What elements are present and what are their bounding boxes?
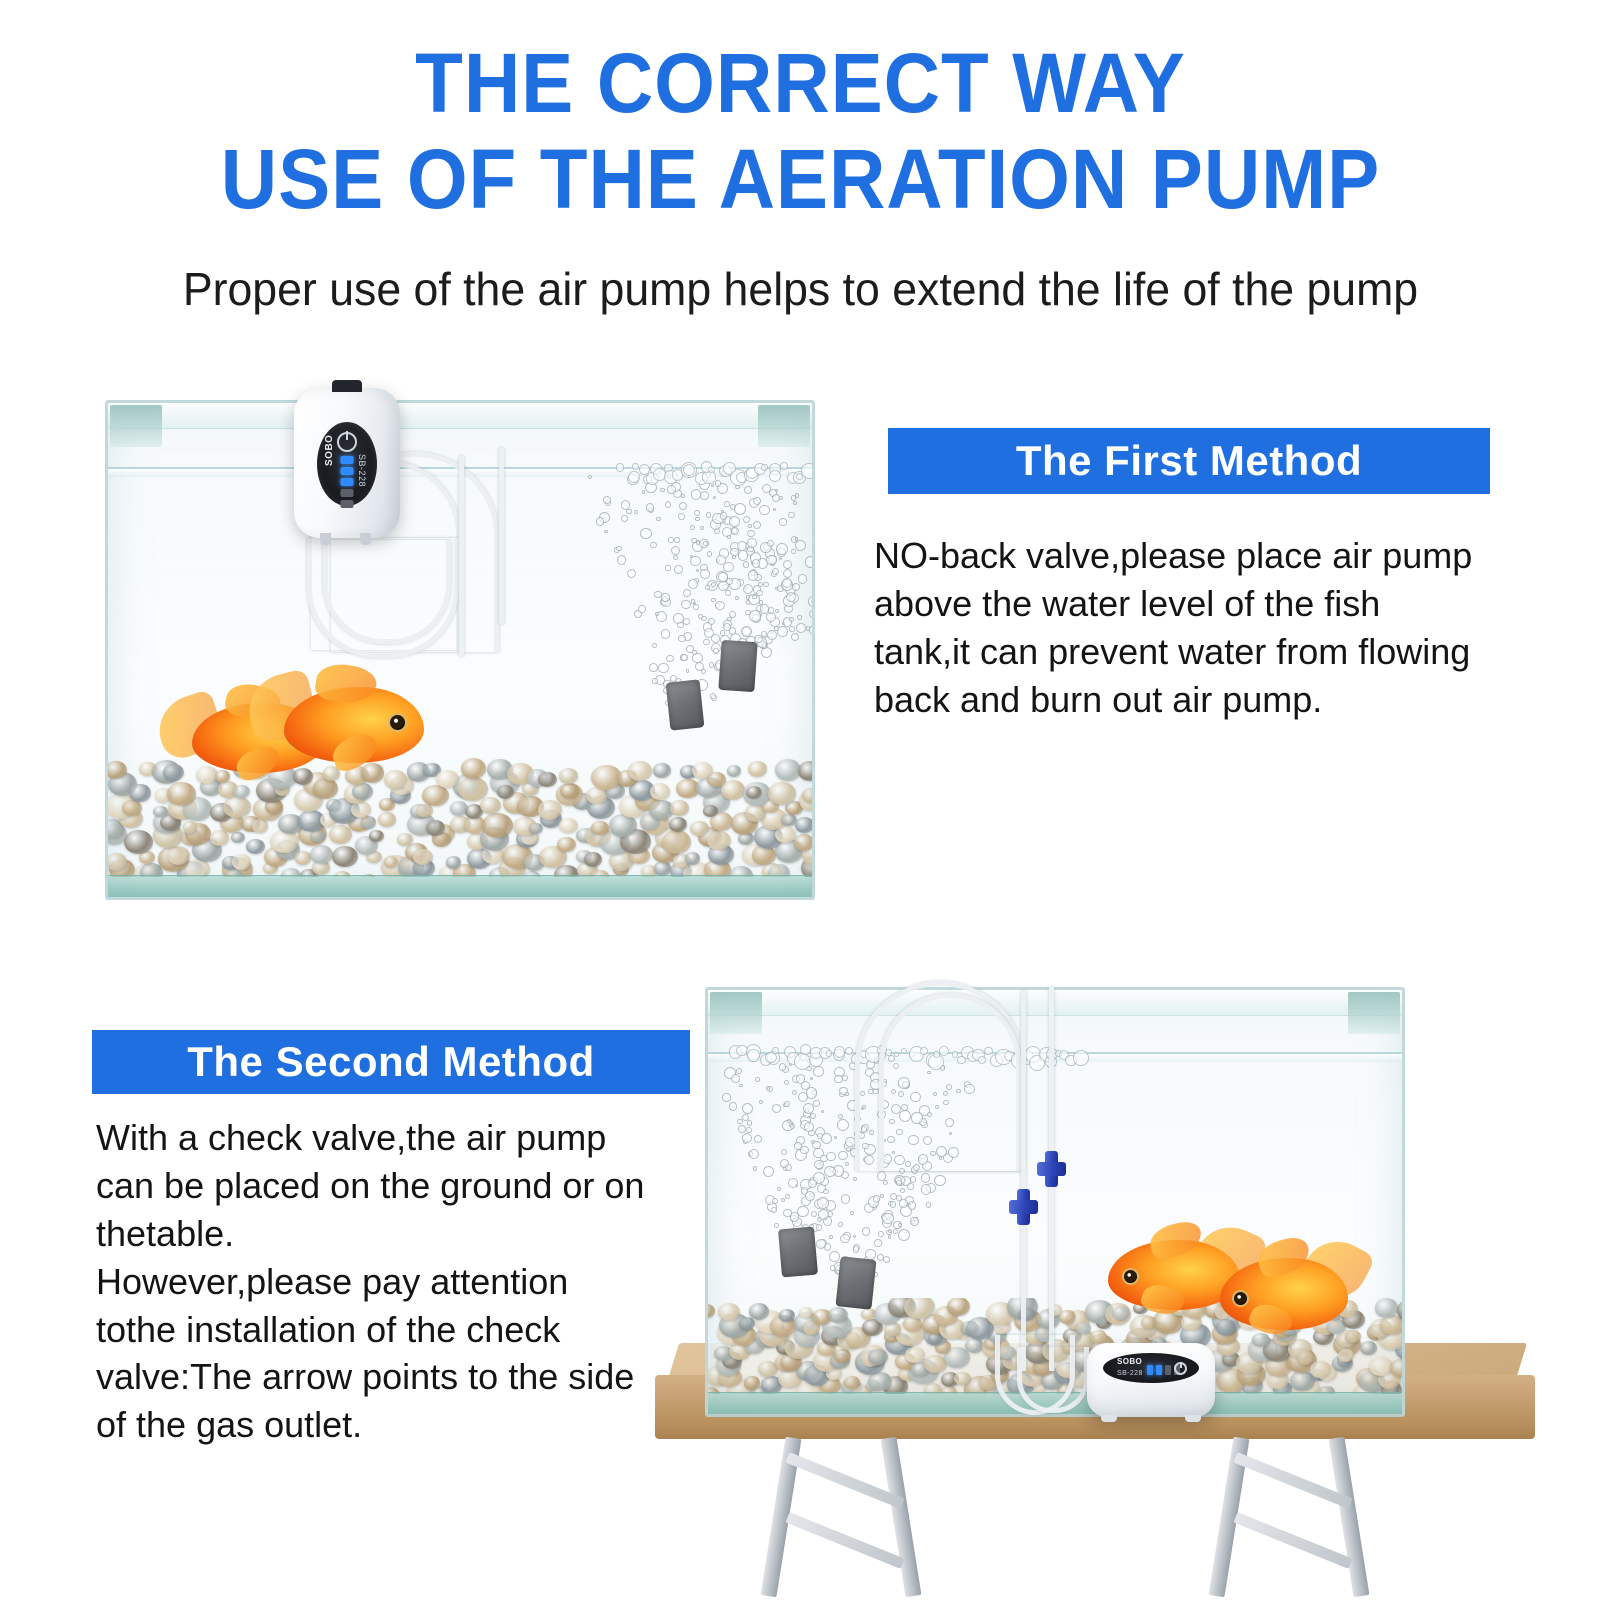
title-line-1: THE CORRECT WAY	[56, 42, 1545, 124]
air-bubble	[814, 512, 815, 518]
air-bubble	[838, 1151, 847, 1160]
air-bubble	[711, 582, 716, 587]
air-bubble	[738, 1125, 746, 1133]
gravel-pebble	[295, 851, 311, 864]
air-bubble	[789, 617, 795, 623]
gravel-pebble	[559, 818, 578, 833]
banner-second-method-label: The Second Method	[187, 1038, 595, 1086]
air-bubble	[775, 489, 778, 492]
air-bubble	[715, 480, 722, 487]
air-bubble	[838, 1114, 843, 1119]
air-bubble	[779, 496, 783, 500]
air-bubble	[674, 537, 680, 543]
air-bubble	[638, 605, 646, 613]
air-bubble	[767, 540, 774, 547]
air-bubble	[813, 1100, 820, 1107]
air-bubble	[729, 611, 736, 618]
air-bubble	[812, 596, 815, 606]
airline-tube-descent	[459, 456, 464, 656]
air-bubble	[823, 1189, 828, 1194]
air-bubble	[814, 1160, 823, 1169]
air-bubble	[814, 515, 815, 521]
surface-foam-bubble	[845, 1047, 853, 1055]
air-bubble	[755, 1077, 759, 1081]
air-bubble	[701, 616, 707, 622]
air-bubble	[691, 538, 697, 544]
air-bubble	[824, 1243, 832, 1251]
air-bubble	[834, 1136, 837, 1139]
air-bubble	[910, 1217, 919, 1226]
gravel-pebble	[868, 1372, 892, 1392]
gravel-pebble	[650, 783, 670, 799]
gravel-pebble	[739, 1317, 755, 1330]
air-bubble	[797, 615, 802, 620]
air-bubble	[686, 669, 689, 672]
air-bubble	[791, 495, 797, 501]
air-bubble	[896, 1180, 902, 1186]
air-bubble	[934, 1175, 945, 1186]
airline-tube-riser	[1021, 991, 1026, 1371]
air-bubble	[804, 1122, 814, 1132]
air-bubble	[720, 630, 726, 636]
gravel-pebble	[560, 783, 579, 799]
gravel-pebble	[384, 770, 407, 789]
air-stone	[778, 1227, 818, 1278]
air-bubble	[700, 569, 710, 579]
air-bubble	[759, 505, 769, 515]
air-bubble	[706, 512, 712, 518]
air-bubble	[829, 1235, 833, 1239]
gravel-pebble	[252, 819, 268, 832]
air-bubble	[713, 496, 716, 499]
gravel-pebble	[748, 761, 767, 777]
air-bubble	[837, 1119, 849, 1131]
air-bubble	[649, 663, 658, 672]
air-bubble	[803, 1103, 814, 1114]
gravel-pebble	[954, 1372, 971, 1386]
gravel-pebble	[310, 845, 333, 864]
gravel-pebble	[584, 852, 603, 867]
air-bubble	[661, 593, 670, 602]
air-bubble	[658, 663, 669, 674]
illustration-second-method: SOBO SB-228	[655, 975, 1555, 1595]
air-bubble	[686, 645, 693, 652]
air-bubble	[681, 600, 691, 610]
gravel-pebble	[223, 796, 250, 819]
air-bubble	[766, 555, 777, 566]
pump-outlet-port	[360, 533, 371, 545]
air-bubble	[617, 555, 627, 565]
air-bubble	[715, 601, 725, 611]
air-bubble	[736, 1068, 742, 1074]
gravel-pebble	[231, 832, 245, 844]
air-bubble	[739, 1084, 742, 1087]
tank-rim-cap-right	[1348, 992, 1400, 1034]
gravel-pebble	[210, 830, 229, 845]
led-indicator	[1147, 1365, 1153, 1375]
air-bubble	[779, 518, 787, 526]
tank-rim	[708, 990, 1402, 1016]
air-bubble	[791, 633, 799, 641]
air-bubble	[789, 626, 795, 632]
air-bubble	[800, 1146, 809, 1155]
surface-foam-bubble	[1073, 1050, 1089, 1066]
gravel-pebble	[232, 854, 251, 870]
air-bubble	[788, 512, 794, 518]
gravel-pebble	[397, 833, 413, 846]
goldfish	[284, 687, 424, 763]
air-bubble	[791, 549, 796, 554]
air-bubble	[775, 609, 779, 613]
air-bubble	[779, 557, 782, 560]
infographic-page: THE CORRECT WAY USE OF THE AERATION PUMP…	[0, 0, 1601, 1601]
air-bubble	[753, 521, 761, 529]
air-bubble	[826, 1152, 836, 1162]
pump-brand-label: SOBO	[1117, 1357, 1142, 1366]
gravel-pebble	[446, 856, 461, 868]
table-leg	[881, 1437, 922, 1598]
air-bubble	[749, 610, 761, 622]
air-bubble	[777, 1187, 781, 1191]
banner-first-method-label: The First Method	[1016, 437, 1362, 485]
air-bubble	[753, 497, 761, 505]
air-bubble	[785, 1194, 790, 1199]
surface-foam-bubble	[813, 472, 815, 482]
air-bubble	[665, 501, 671, 507]
air-bubble	[760, 604, 769, 613]
air-bubble	[882, 1213, 893, 1224]
air-bubble	[691, 599, 696, 604]
air-bubble	[809, 625, 815, 635]
air-bubble	[729, 516, 741, 528]
led-indicator-group	[341, 456, 354, 511]
air-bubble	[926, 1202, 931, 1207]
gravel-pebble	[670, 800, 689, 816]
air-bubble	[720, 512, 728, 520]
air-bubble	[838, 1222, 843, 1227]
gravel-pebble	[749, 1303, 770, 1320]
air-bubble	[829, 1251, 840, 1262]
air-bubble	[784, 1101, 790, 1107]
air-bubble	[753, 1166, 757, 1170]
air-bubble	[752, 559, 760, 567]
banner-second-method: The Second Method	[92, 1030, 690, 1094]
air-bubble	[840, 1234, 850, 1244]
gravel-pebble	[108, 853, 127, 870]
air-bubble	[713, 648, 719, 654]
body-second-method: With a check valve,the air pump can be p…	[96, 1114, 656, 1449]
gravel-pebble	[416, 804, 433, 818]
pump-foot	[1185, 1415, 1201, 1422]
gravel-pebble	[744, 1376, 761, 1390]
gravel-pebble	[718, 1303, 740, 1321]
gravel-pebble	[905, 1347, 925, 1363]
air-bubble	[845, 1162, 850, 1167]
gravel-pebble	[480, 797, 501, 814]
air-bubble	[742, 1133, 752, 1143]
air-bubble	[704, 628, 714, 638]
banner-first-method: The First Method	[888, 428, 1490, 494]
gravel-pebble	[703, 805, 718, 817]
gravel-pebble	[768, 782, 795, 804]
airline-tube-descent	[499, 448, 504, 624]
gravel-pebble	[183, 821, 198, 833]
air-bubble	[747, 538, 758, 549]
air-bubble	[880, 1194, 884, 1198]
gravel-pebble	[669, 817, 687, 832]
air-bubble	[793, 501, 797, 505]
gravel-pebble	[1338, 1349, 1354, 1362]
gravel-pebble	[828, 1307, 848, 1323]
air-bubble	[743, 584, 753, 594]
air-bubble	[883, 1180, 888, 1185]
tank-rim-cap-left	[710, 992, 762, 1034]
pump-outlet-port	[320, 533, 331, 545]
air-bubble	[735, 596, 739, 600]
air-bubble	[767, 630, 777, 640]
air-bubble	[749, 1149, 760, 1160]
body-first-method: NO-back valve,please place air pump abov…	[874, 532, 1474, 724]
gravel-pebble	[799, 1307, 813, 1319]
tank-rim-cap-right	[758, 405, 810, 447]
air-bubble	[709, 662, 714, 667]
subtitle: Proper use of the air pump helps to exte…	[24, 262, 1577, 316]
air-bubble	[683, 589, 691, 597]
air-bubble	[660, 488, 665, 493]
gravel-pebble	[482, 813, 513, 838]
air-bubble	[588, 475, 592, 479]
pump-foot	[1101, 1415, 1117, 1422]
air-bubble	[711, 484, 714, 487]
air-bubble	[771, 1207, 778, 1214]
air-bubble	[808, 596, 815, 606]
gravel-pebble	[538, 772, 557, 788]
air-bubble	[690, 525, 695, 530]
tank-rim	[108, 403, 812, 429]
led-indicator	[341, 478, 354, 486]
air-bubble	[596, 517, 605, 526]
air-bubble	[845, 1092, 849, 1096]
gravel-pebble	[436, 770, 458, 788]
gravel-pebble	[1390, 1359, 1402, 1377]
air-bubble	[665, 565, 670, 570]
gravel-pebble	[795, 817, 812, 833]
air-bubble	[674, 565, 683, 574]
air-bubble	[722, 1093, 731, 1102]
check-valve	[1017, 1189, 1030, 1225]
air-bubble	[627, 569, 636, 578]
air-bubble	[640, 528, 651, 539]
air-bubble	[853, 1235, 856, 1238]
air-bubble	[742, 1103, 753, 1114]
air-bubble	[748, 524, 752, 528]
power-button-icon[interactable]	[1174, 1362, 1187, 1375]
gravel-pebble	[685, 852, 700, 865]
air-bubble	[862, 1227, 870, 1235]
air-bubble	[743, 561, 750, 568]
air-bubble	[921, 1173, 930, 1182]
air-bubble	[898, 1229, 910, 1241]
table-brace	[785, 1512, 904, 1569]
fish-eye	[1232, 1290, 1249, 1307]
led-indicator	[1156, 1365, 1162, 1375]
pump-brand-label: SOBO	[324, 435, 335, 466]
air-bubble	[747, 1120, 753, 1126]
air-stone	[718, 640, 757, 692]
pump-control-panel[interactable]: SOBO SB-228	[317, 422, 377, 506]
gravel-pebble	[1360, 1341, 1377, 1355]
air-bubble	[813, 557, 815, 561]
air-stone	[835, 1256, 876, 1309]
gravel-bed	[108, 755, 812, 877]
gravel-pebble	[329, 825, 352, 844]
air-bubble	[731, 527, 739, 535]
pump-model-label: SB-228	[1117, 1370, 1143, 1377]
surface-foam-bubble	[826, 1050, 833, 1057]
gravel-pebble	[727, 765, 741, 777]
air-bubble	[890, 1193, 897, 1200]
tank-base-glass	[108, 875, 812, 897]
air-bubble	[853, 1246, 859, 1252]
air-bubble	[878, 1231, 884, 1237]
illustration-first-method: SOBO SB-228	[95, 390, 825, 910]
air-bubble	[694, 510, 700, 516]
gravel-pebble	[233, 785, 250, 799]
air-bubble	[703, 541, 708, 546]
air-bubble	[671, 546, 680, 555]
air-bubble	[899, 1199, 907, 1207]
air-bubble	[853, 1177, 857, 1181]
gravel-pebble	[947, 1298, 970, 1316]
air-bubble	[813, 1066, 824, 1077]
air-bubble	[642, 490, 646, 494]
air-bubble	[688, 579, 698, 589]
air-bubble	[754, 1135, 762, 1143]
air-bubble	[813, 1148, 823, 1158]
air-bubble	[809, 610, 815, 618]
air-bubble	[708, 618, 716, 626]
gravel-pebble	[1369, 1357, 1392, 1376]
air-bubble	[805, 556, 815, 568]
gravel-pebble	[153, 806, 167, 818]
air-bubble	[744, 486, 752, 494]
led-indicator	[341, 500, 354, 508]
pump-control-panel[interactable]: SOBO SB-228	[1103, 1353, 1199, 1383]
air-bubble	[731, 1074, 740, 1083]
air-bubble	[741, 626, 752, 637]
check-valve	[1045, 1151, 1058, 1187]
air-bubble	[678, 513, 685, 520]
led-indicator	[1165, 1365, 1171, 1375]
air-bubble	[661, 629, 671, 639]
gravel-pebble	[361, 816, 376, 828]
air-bubble	[679, 502, 688, 511]
air-bubble	[747, 530, 754, 537]
surface-foam-bubble	[628, 471, 640, 483]
air-bubble	[898, 1223, 902, 1227]
air-bubble	[805, 1191, 815, 1201]
air-bubble	[681, 494, 685, 498]
air-bubble	[772, 1198, 778, 1204]
air-bubble	[724, 501, 730, 507]
air-bubble	[874, 1239, 882, 1247]
table-brace	[1233, 1512, 1352, 1569]
air-bubble	[811, 1211, 817, 1217]
air-bubble	[723, 562, 733, 572]
air-bubble	[700, 526, 704, 530]
air-bubble	[678, 635, 685, 642]
air-bubble	[773, 508, 776, 511]
airline-tube-to-pump	[1017, 1347, 1089, 1413]
gravel-pebble	[1297, 1351, 1314, 1365]
air-bubble	[748, 570, 758, 580]
air-bubble	[727, 535, 730, 538]
gravel-pebble	[246, 839, 265, 854]
gravel-pebble	[369, 830, 384, 842]
air-bubble	[873, 1195, 880, 1202]
air-bubble	[696, 569, 699, 572]
air-bubble	[821, 1110, 824, 1113]
gravel-pebble	[461, 758, 486, 779]
air-bubble	[668, 537, 674, 543]
air-bubble	[783, 560, 793, 570]
power-button-icon[interactable]	[337, 432, 357, 452]
air-bubble	[738, 550, 748, 560]
surface-foam-bubble	[683, 464, 695, 476]
air-bubble	[634, 510, 638, 514]
gravel-pebble	[591, 821, 609, 836]
air-bubble	[695, 517, 700, 522]
air-bubble	[652, 678, 657, 683]
air-bubble	[777, 626, 788, 637]
air-bubble	[772, 1104, 781, 1113]
fish-eye	[1122, 1268, 1139, 1285]
air-bubble	[729, 1102, 737, 1110]
air-pump-device[interactable]: SOBO SB-228	[294, 388, 400, 538]
air-bubble	[621, 500, 631, 510]
air-bubble	[788, 1178, 798, 1188]
air-bubble	[677, 622, 683, 628]
gravel-pebble	[707, 772, 726, 787]
air-bubble	[792, 583, 800, 591]
gravel-pebble	[361, 763, 385, 782]
air-bubble	[734, 503, 746, 515]
gravel-pebble	[834, 1349, 851, 1363]
air-bubble	[604, 530, 607, 533]
air-bubble	[700, 491, 709, 500]
air-bubble	[656, 517, 661, 522]
air-bubble	[783, 1209, 792, 1218]
gravel-pebble	[1076, 1322, 1090, 1334]
air-bubble	[652, 643, 657, 648]
air-bubble	[795, 540, 806, 551]
gravel-pebble	[352, 783, 373, 800]
air-bubble	[810, 1077, 814, 1081]
air-stone	[666, 679, 705, 730]
air-bubble	[763, 582, 769, 588]
air-bubble	[616, 546, 622, 552]
air-bubble	[796, 623, 806, 633]
surface-foam-bubble	[769, 470, 781, 482]
tank-rim-cap-left	[110, 405, 162, 447]
air-pump-device[interactable]: SOBO SB-228	[1087, 1343, 1215, 1417]
air-bubble	[785, 1164, 792, 1171]
gravel-pebble	[129, 784, 150, 801]
air-bubble	[703, 639, 710, 646]
air-bubble	[673, 555, 678, 560]
air-bubble	[756, 590, 762, 596]
air-bubble	[792, 1090, 797, 1095]
